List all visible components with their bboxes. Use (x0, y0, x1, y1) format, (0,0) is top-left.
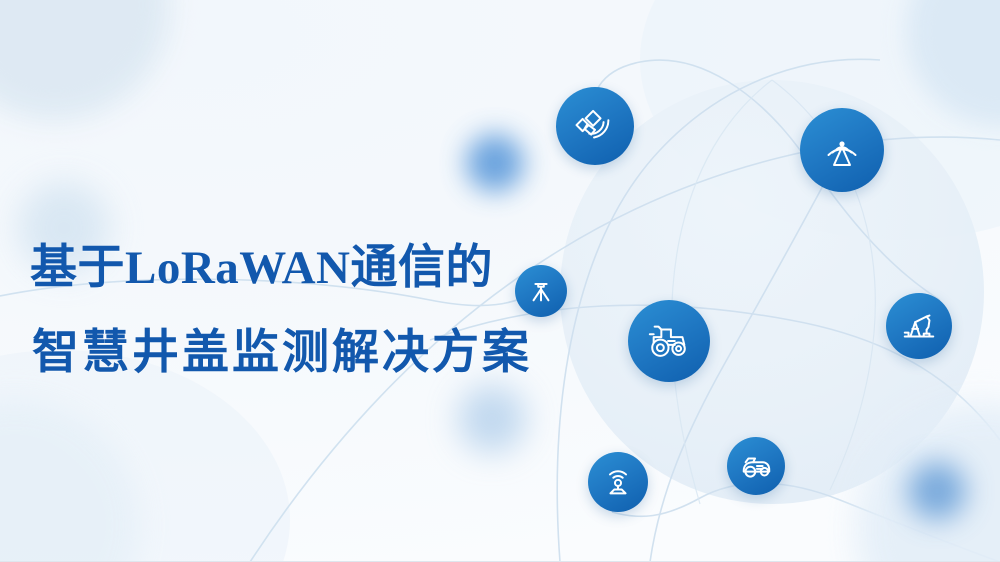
blurred-circle-bottom-right (856, 404, 1000, 561)
node-satellite-dish[interactable] (556, 87, 634, 165)
oil-pumpjack-icon (900, 307, 938, 345)
node-robot-mower[interactable] (727, 437, 785, 495)
blurred-circle-top-left (0, 0, 170, 120)
blurred-circle-bottom-left (0, 400, 140, 561)
slide-title: 基于LoRaWAN通信的 智慧井盖监测解决方案 (30, 226, 532, 396)
title-line-2: 智慧井盖监测解决方案 (30, 311, 532, 396)
robot-mower-icon (739, 449, 773, 483)
satellite-dish-icon (574, 105, 616, 147)
orbit-curve-5 (612, 483, 1000, 561)
orbit-curve-6 (593, 60, 940, 300)
tractor-icon (646, 318, 692, 364)
presentation-slide: 基于LoRaWAN通信的 智慧井盖监测解决方案 (0, 0, 1000, 562)
blurred-dot-bottom-right (908, 462, 966, 520)
blurred-circle-top-right (906, 0, 1000, 126)
node-oil-pumpjack[interactable] (886, 293, 952, 359)
node-tractor[interactable] (628, 300, 710, 382)
node-radio-tower[interactable] (800, 108, 884, 192)
node-wireless-sensor[interactable] (588, 452, 648, 512)
blurred-dot-center (466, 134, 524, 192)
wireless-sensor-icon (601, 465, 635, 499)
radio-tower-icon (819, 127, 865, 173)
title-line-1: 基于LoRaWAN通信的 (30, 226, 532, 311)
